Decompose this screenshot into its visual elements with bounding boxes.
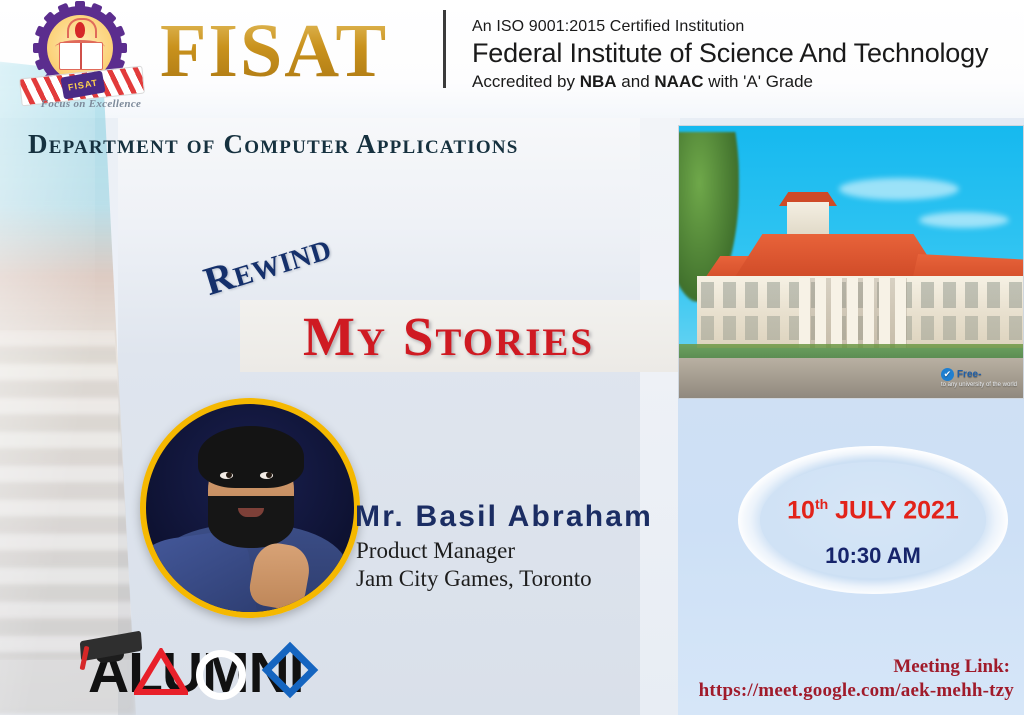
flame-icon	[75, 22, 85, 38]
institution-details: An ISO 9001:2015 Certified Institution F…	[472, 18, 1017, 92]
photo-portico-columns	[799, 278, 907, 348]
event-date-number: 10	[787, 496, 815, 524]
meeting-link-url[interactable]: https://meet.google.com/aek-mehh-tzy	[0, 680, 1014, 702]
accreditation-naac: NAAC	[654, 72, 703, 91]
avatar-hair	[198, 426, 304, 488]
event-date: 10th JULY 2021	[738, 496, 1008, 525]
fisat-logo-icon: FISAT Focus on Excellence	[14, 2, 144, 106]
speaker-role: Product Manager	[356, 538, 515, 564]
avatar-pupil-right	[266, 472, 272, 478]
event-time: 10:30 AM	[738, 543, 1008, 569]
iso-certification-line: An ISO 9001:2015 Certified Institution	[472, 18, 1017, 36]
photo-cloud	[839, 178, 959, 200]
photo-watermark: ✔Free- to any university of the world	[941, 368, 1017, 388]
logo-tagline: Focus on Excellence	[26, 98, 156, 110]
watermark-check-icon: ✔	[941, 368, 954, 381]
campus-photo: ✔Free- to any university of the world	[678, 125, 1024, 399]
right-strip-background	[640, 118, 680, 715]
institution-name: Federal Institute of Science And Technol…	[472, 38, 1017, 69]
accreditation-prefix: Accredited by	[472, 72, 580, 91]
accreditation-line: Accredited by NBA and NAAC with 'A' Grad…	[472, 72, 1017, 92]
speaker-organization: Jam City Games, Toronto	[356, 566, 592, 592]
avatar-beard	[208, 496, 294, 548]
poster-header: FISAT Focus on Excellence FISAT An ISO 9…	[0, 0, 1024, 115]
event-date-ordinal: th	[815, 496, 828, 512]
speaker-avatar	[140, 398, 360, 618]
open-book-icon	[59, 42, 103, 70]
fisat-wordmark: FISAT	[160, 8, 388, 95]
meeting-link-label: Meeting Link:	[0, 656, 1010, 678]
event-title-main: My Stories	[303, 305, 594, 368]
photo-roof-main	[733, 234, 943, 280]
event-poster: FISAT Focus on Excellence FISAT An ISO 9…	[0, 0, 1024, 715]
watermark-main-text: Free-	[957, 369, 981, 380]
accreditation-mid: and	[617, 72, 655, 91]
department-title: Department of Computer Applications	[28, 129, 519, 160]
header-divider	[443, 10, 446, 88]
avatar-pupil-left	[226, 472, 232, 478]
accreditation-suffix: with 'A' Grade	[704, 72, 813, 91]
photo-cloud	[919, 212, 1009, 228]
accreditation-nba: NBA	[580, 72, 617, 91]
speaker-name: Mr. Basil Abraham	[355, 500, 653, 534]
event-date-rest: JULY 2021	[828, 496, 959, 524]
watermark-sub-text: to any university of the world	[941, 382, 1017, 388]
